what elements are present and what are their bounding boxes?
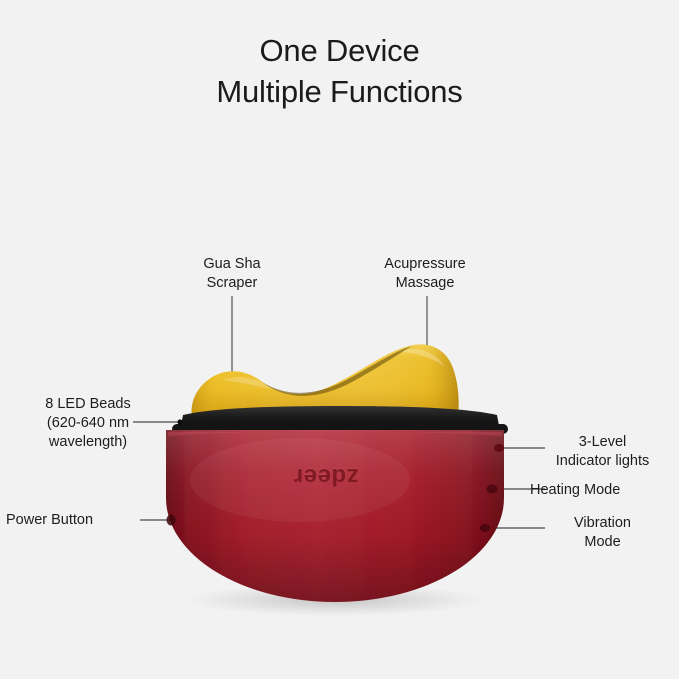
callout-vibration-mode-line-2: Mode	[530, 533, 675, 552]
callout-led-beads-line-3: wavelength)	[8, 433, 168, 452]
callout-indicator-lights-line-2: Indicator lights	[530, 452, 675, 471]
callout-acupressure-line-2: Massage	[350, 274, 500, 293]
product-illustration	[0, 0, 679, 679]
callout-indicator-lights-line-1: 3-Level	[530, 433, 675, 452]
callout-power-button-line-1: Power Button	[6, 511, 146, 530]
indicator-lights-nub[interactable]	[494, 444, 504, 452]
callout-vibration-mode-line-1: Vibration	[530, 514, 675, 533]
callout-gua-sha-scraper: Gua Sha Scraper	[157, 255, 307, 293]
infographic-canvas: One Device Multiple Functions	[0, 0, 679, 679]
callout-led-beads-line-1: 8 LED Beads	[8, 395, 168, 414]
dome-sheen	[190, 438, 410, 522]
callout-acupressure-massage: Acupressure Massage	[350, 255, 500, 293]
power-button-nub[interactable]	[167, 515, 176, 526]
led-bead-marker	[177, 419, 182, 424]
heating-mode-nub[interactable]	[487, 485, 498, 494]
callout-gua-sha-line-1: Gua Sha	[157, 255, 307, 274]
callout-acupressure-line-1: Acupressure	[350, 255, 500, 274]
callout-heating-mode: Heating Mode	[530, 481, 675, 500]
callout-led-beads: 8 LED Beads (620-640 nm wavelength)	[8, 395, 168, 452]
red-dome-body	[166, 430, 504, 602]
callout-heating-mode-line-1: Heating Mode	[530, 481, 675, 500]
callout-led-beads-line-2: (620-640 nm	[8, 414, 168, 433]
callout-gua-sha-line-2: Scraper	[157, 274, 307, 293]
vibration-mode-nub[interactable]	[480, 524, 490, 532]
black-band	[172, 406, 508, 434]
callout-vibration-mode: Vibration Mode	[530, 514, 675, 552]
callout-indicator-lights: 3-Level Indicator lights	[530, 433, 675, 471]
callout-power-button: Power Button	[6, 511, 146, 530]
